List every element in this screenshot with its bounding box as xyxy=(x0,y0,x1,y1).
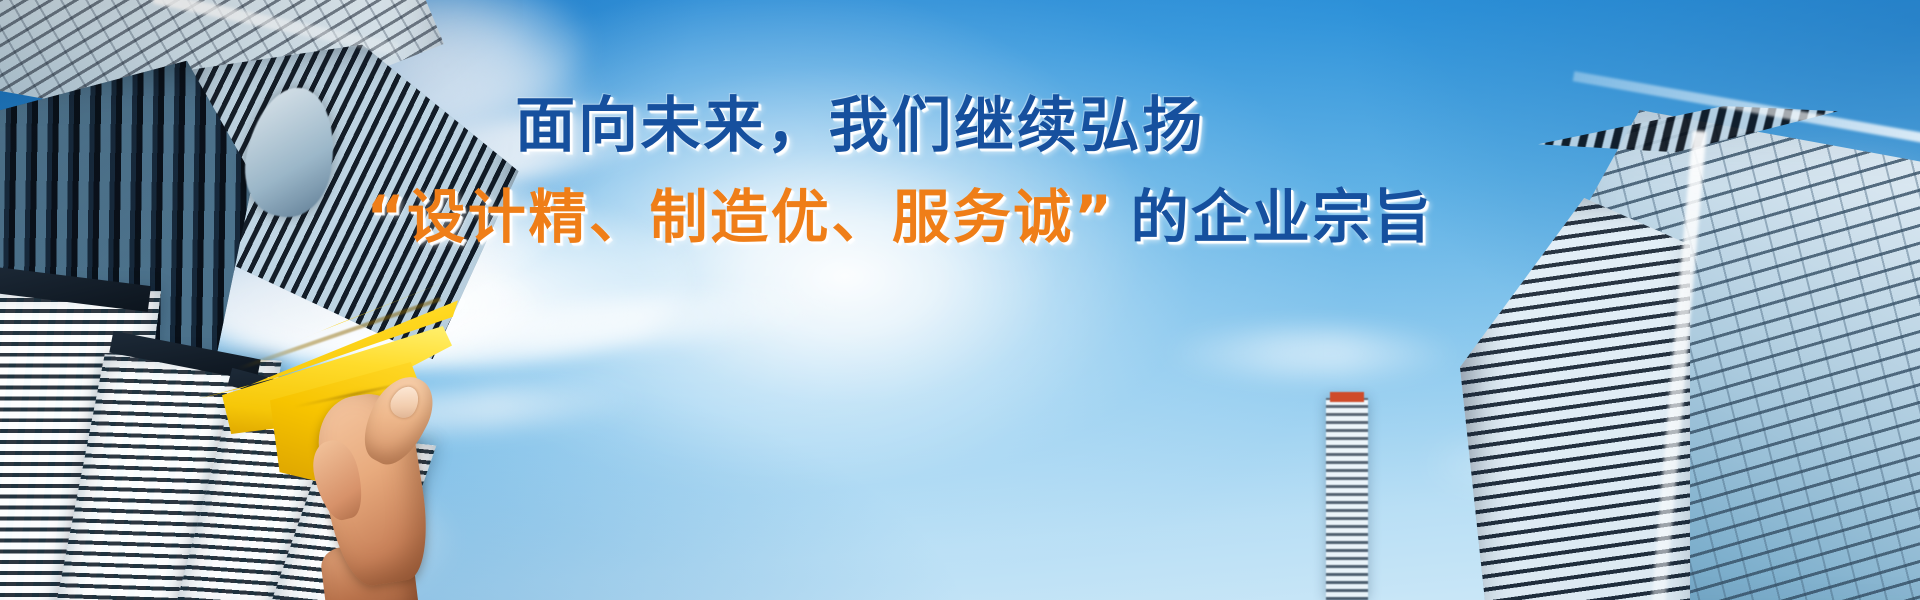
headline-block: 面向未来，我们继续弘扬 “设计精、制造优、服务诚”的企业宗旨 xyxy=(0,96,1920,246)
right-tower-side-facade xyxy=(1460,198,1690,600)
headline-close-quote: ” xyxy=(1074,183,1115,251)
headline-open-quote: “ xyxy=(366,183,407,251)
hero-banner: 面向未来，我们继续弘扬 “设计精、制造优、服务诚”的企业宗旨 xyxy=(0,0,1920,600)
headline-line-2: “设计精、制造优、服务诚”的企业宗旨 xyxy=(0,188,1920,246)
distant-building-roof xyxy=(1330,392,1364,402)
paper-plane-group xyxy=(196,270,496,500)
headline-motto: 设计精、制造优、服务诚 xyxy=(407,183,1074,251)
hand-holding-plane xyxy=(300,348,480,578)
headline-line-1: 面向未来，我们继续弘扬 xyxy=(0,96,1920,156)
headline-tail: 的企业宗旨 xyxy=(1131,183,1434,251)
distant-building xyxy=(1326,398,1368,600)
